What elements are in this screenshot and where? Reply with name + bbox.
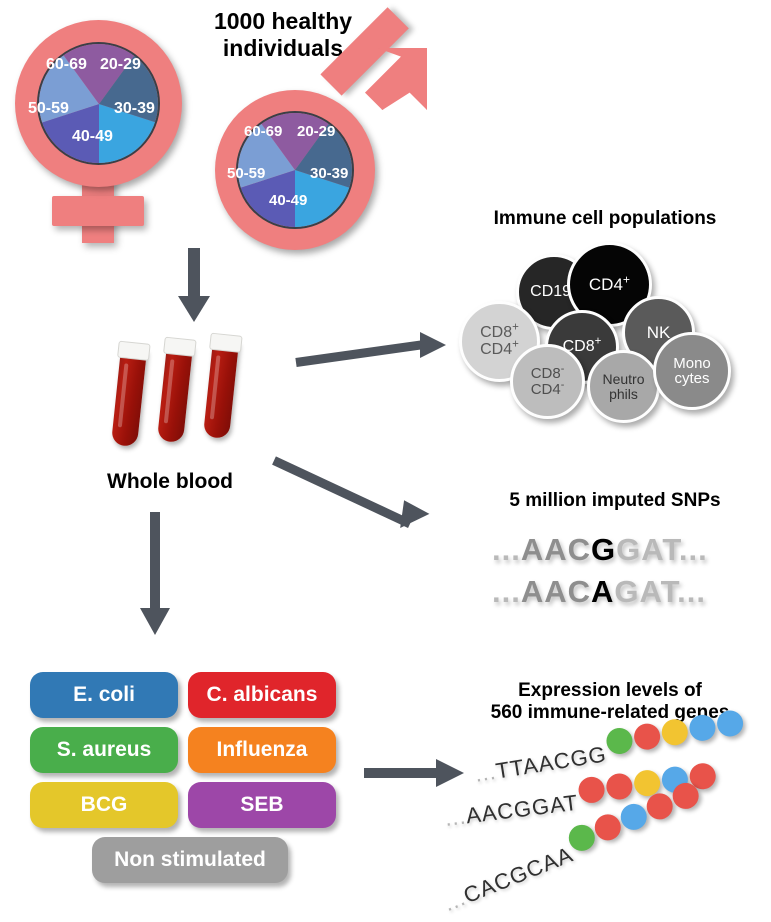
stimulus-s-aureus[interactable]: S. aureus xyxy=(30,727,178,773)
pie-label-40-49: 40-49 xyxy=(72,128,113,146)
blood-tube xyxy=(203,339,239,439)
snp-right-bases: GAT xyxy=(614,574,677,609)
strand-sequence: ...AACGGAT xyxy=(443,790,579,831)
arrow-blood-to-immune xyxy=(296,330,456,380)
stimulus-label: Non stimulated xyxy=(114,848,266,872)
arrow-blood-to-stimuli xyxy=(138,512,172,642)
snp-sequence-row: ...AACAGAT... xyxy=(492,574,706,610)
stimulus-label: C. albicans xyxy=(207,683,318,707)
bead xyxy=(632,722,662,752)
tube-body xyxy=(111,347,147,447)
pie-label-50-59: 50-59 xyxy=(227,165,265,182)
snp-variant-allele: A xyxy=(591,574,614,609)
expression-strands-group: ...TTAACGG ...AACGGAT xyxy=(455,742,771,912)
arrow-shaft xyxy=(272,456,412,528)
tube-cap xyxy=(163,337,197,357)
pie-label-40-49: 40-49 xyxy=(269,192,307,209)
snp-variant-allele: G xyxy=(591,532,616,567)
arrow-head xyxy=(420,332,446,358)
bubble-cd8-cd4-double-negative: CD8- CD4- xyxy=(510,344,585,419)
pie-label-60-69: 60-69 xyxy=(244,123,282,140)
bead xyxy=(577,775,606,804)
immune-bubbles-group: CD19+ CD4+ CD8+ CD4+ CD8+ NK CD8- C xyxy=(450,240,771,430)
bubble-neutrophils: Neutro phils xyxy=(587,350,660,423)
snp-left-bases: AAC xyxy=(521,532,591,567)
stimulus-seb[interactable]: SEB xyxy=(188,782,336,828)
snp-sequence-row: ...AACGGAT... xyxy=(492,532,708,568)
stimulus-influenza[interactable]: Influenza xyxy=(188,727,336,773)
pie-label-20-29: 20-29 xyxy=(297,123,335,140)
expression-title-line1: Expression levels of xyxy=(455,680,765,702)
pie-label-30-39: 30-39 xyxy=(310,165,348,182)
figure-canvas: 1000 healthy individuals 20-29 30-39 40-… xyxy=(0,0,771,922)
bubble-label: Neutro phils xyxy=(602,372,644,401)
blood-tubes-group xyxy=(110,336,280,456)
snps-title: 5 million imputed SNPs xyxy=(475,490,755,512)
stimulus-label: BCG xyxy=(81,793,128,817)
snp-suffix-dots: ... xyxy=(677,574,706,609)
stimulus-e-coli[interactable]: E. coli xyxy=(30,672,178,718)
strand-sequence: ...CACGCAA xyxy=(440,842,577,917)
tube-cap xyxy=(117,341,151,361)
snp-prefix-dots: ... xyxy=(492,574,521,609)
snp-left-bases: AAC xyxy=(521,574,591,609)
snp-suffix-dots: ... xyxy=(679,532,708,567)
stimulus-label: Influenza xyxy=(216,738,307,762)
strand-bases: AACGGAT xyxy=(465,790,580,829)
tube-body xyxy=(203,339,239,439)
pie-label-30-39: 30-39 xyxy=(114,100,155,118)
arrow-blood-to-snps xyxy=(274,448,454,538)
tube-body xyxy=(157,343,193,443)
whole-blood-label: Whole blood xyxy=(75,470,265,495)
arrow-head xyxy=(140,608,170,635)
bead xyxy=(605,726,635,756)
stimulus-label: SEB xyxy=(240,793,283,817)
blood-tube xyxy=(157,343,193,443)
arrow-shaft xyxy=(188,248,200,300)
stimuli-group: E. coli C. albicans S. aureus Influenza … xyxy=(30,672,350,892)
arrow-head xyxy=(400,500,431,531)
arrow-cohort-to-blood xyxy=(178,248,210,324)
pie-label-20-29: 20-29 xyxy=(100,56,141,74)
arrow-head xyxy=(178,296,210,322)
snp-prefix-dots: ... xyxy=(492,532,521,567)
stimulus-bcg[interactable]: BCG xyxy=(30,782,178,828)
stimulus-label: S. aureus xyxy=(57,738,152,762)
bubble-label: CD8+ CD4+ xyxy=(480,325,519,358)
bubble-label: NK xyxy=(647,324,671,341)
blood-tube xyxy=(111,347,147,447)
pie-label-60-69: 60-69 xyxy=(46,56,87,74)
bead xyxy=(605,772,634,801)
bubble-monocytes: Mono cytes xyxy=(653,332,731,410)
male-symbol: 20-29 30-39 40-49 50-59 60-69 xyxy=(205,55,420,250)
tube-cap xyxy=(209,333,243,353)
snp-right-bases: GAT xyxy=(616,532,679,567)
bubble-label: CD8- CD4- xyxy=(531,366,565,397)
bubble-label: Mono cytes xyxy=(673,356,711,387)
arrow-shaft xyxy=(150,512,160,612)
strand-bases: CACGCAA xyxy=(460,842,577,909)
pie-label-50-59: 50-59 xyxy=(28,100,69,118)
expression-strand: ...CACGCAA xyxy=(440,842,577,917)
stimulus-c-albicans[interactable]: C. albicans xyxy=(188,672,336,718)
stimulus-label: E. coli xyxy=(73,683,135,707)
female-cross-horizontal xyxy=(52,196,144,226)
arrow-shaft xyxy=(364,768,440,778)
expression-strand: ...AACGGAT xyxy=(443,790,579,832)
arrow-shaft xyxy=(295,340,425,367)
bubble-label: CD4+ xyxy=(589,276,630,293)
female-symbol: 20-29 30-39 40-49 50-59 60-69 xyxy=(10,18,190,248)
stimulus-non-stimulated[interactable]: Non stimulated xyxy=(92,837,288,883)
immune-title: Immune cell populations xyxy=(455,208,755,230)
